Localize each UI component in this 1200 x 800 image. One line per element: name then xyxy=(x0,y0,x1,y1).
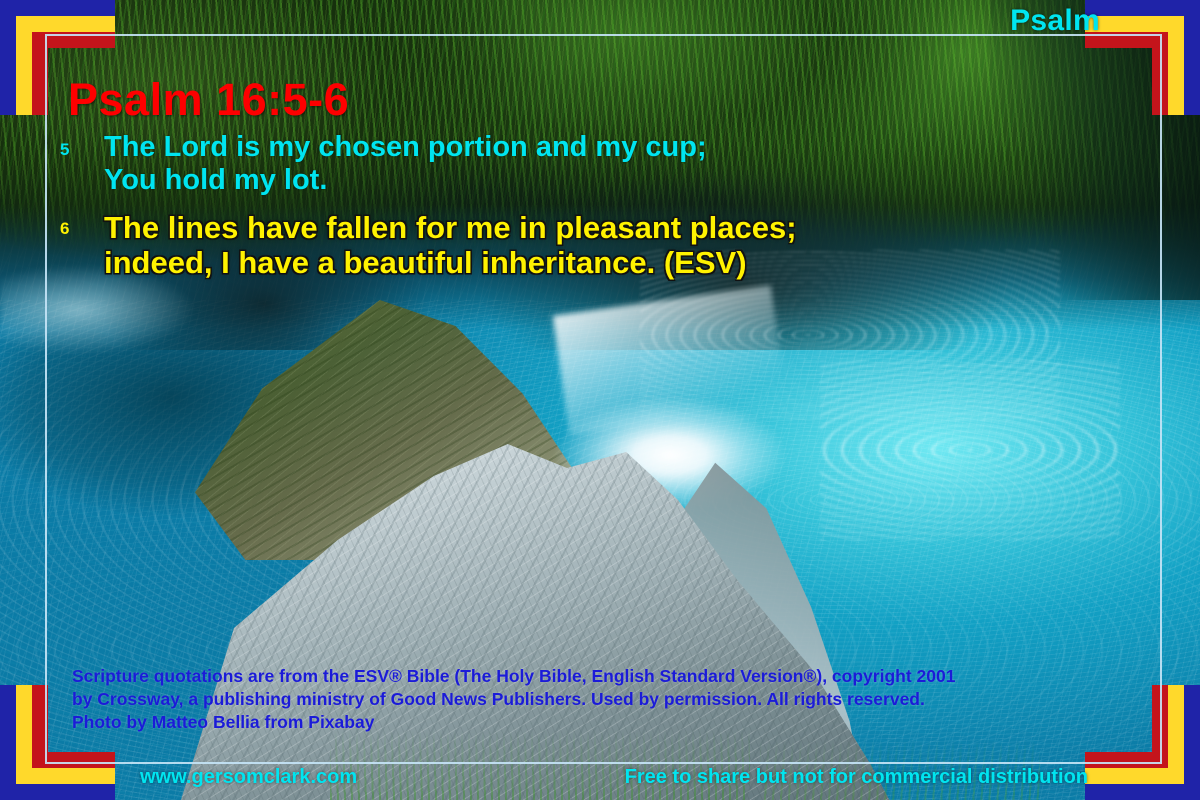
book-name-tag: Psalm xyxy=(1010,4,1100,38)
corner-blue-horizontal-br xyxy=(1085,784,1200,800)
corner-blue-vertical-bl xyxy=(0,685,16,800)
corner-bracket-top-right xyxy=(1085,0,1200,115)
corner-yellow-horizontal-tl xyxy=(16,16,115,32)
verse-line: The Lord is my chosen portion and my cup… xyxy=(104,131,900,164)
verse-number-5: 5 xyxy=(60,131,104,160)
corner-yellow-horizontal-br xyxy=(1085,768,1184,784)
corner-blue-vertical-tl xyxy=(0,0,16,115)
corner-blue-vertical-br xyxy=(1184,685,1200,800)
corner-blue-horizontal-tr xyxy=(1085,0,1200,16)
corner-blue-horizontal-bl xyxy=(0,784,115,800)
scripture-slide: Psalm Psalm 16:5-6 5 The Lord is my chos… xyxy=(0,0,1200,800)
verse-text-5: The Lord is my chosen portion and my cup… xyxy=(104,131,900,197)
corner-yellow-horizontal-bl xyxy=(16,768,115,784)
right-rapids-swirl xyxy=(820,360,1120,540)
credits-line-2: by Crossway, a publishing ministry of Go… xyxy=(72,688,1092,711)
page-title: Psalm 16:5-6 xyxy=(68,74,349,126)
verse-line: The lines have fallen for me in pleasant… xyxy=(104,210,900,245)
copyright-credits: Scripture quotations are from the ESV® B… xyxy=(72,665,1092,734)
usage-notice-label: Free to share but not for commercial dis… xyxy=(625,766,1088,789)
verse-block: 5 The Lord is my chosen portion and my c… xyxy=(60,131,900,281)
corner-red-horizontal-br xyxy=(1085,752,1168,768)
verse-number-6: 6 xyxy=(60,210,104,239)
website-url[interactable]: www.gersomclark.com xyxy=(140,766,357,789)
credits-line-1: Scripture quotations are from the ESV® B… xyxy=(72,665,1092,688)
verse-line: You hold my lot. xyxy=(104,164,900,197)
corner-bracket-bottom-right xyxy=(1085,685,1200,800)
corner-blue-vertical-tr xyxy=(1184,0,1200,115)
corner-blue-horizontal-tl xyxy=(0,0,115,16)
verse-row-5: 5 The Lord is my chosen portion and my c… xyxy=(60,131,900,197)
verse-line: indeed, I have a beautiful inheritance. … xyxy=(104,245,900,280)
corner-red-horizontal-tl xyxy=(32,32,115,48)
grass-tuft-left xyxy=(330,730,750,800)
verse-row-6: 6 The lines have fallen for me in pleasa… xyxy=(60,210,900,281)
credits-line-3: Photo by Matteo Bellia from Pixabay xyxy=(72,711,1092,734)
verse-text-6: The lines have fallen for me in pleasant… xyxy=(104,210,900,281)
corner-red-horizontal-bl xyxy=(32,752,115,768)
